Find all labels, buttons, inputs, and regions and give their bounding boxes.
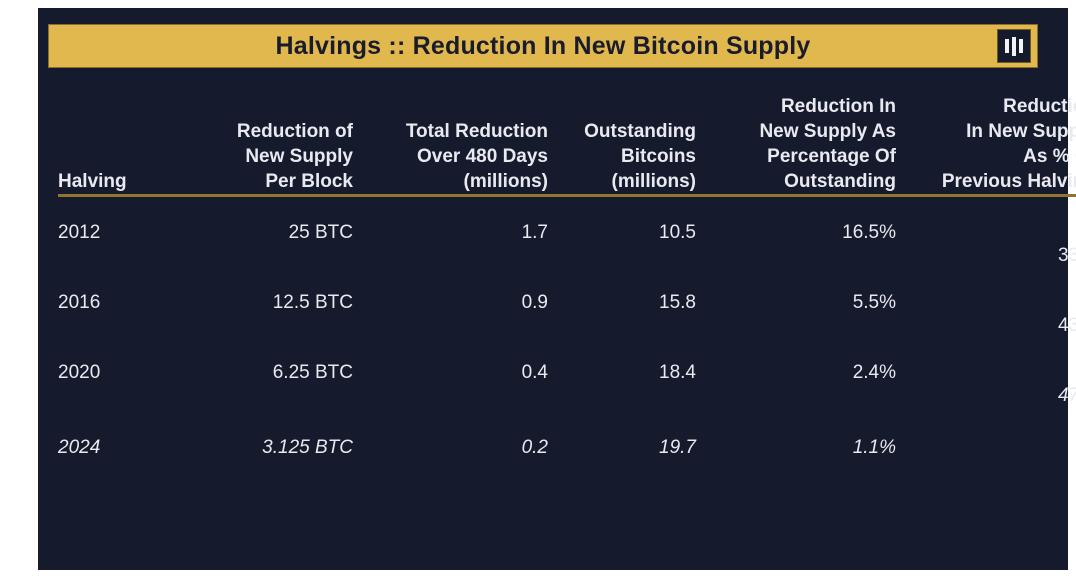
table-row: 2012 25 BTC 1.7 10.5 16.5% 33% <box>58 196 1076 268</box>
table-row: 2020 6.25 BTC 0.4 18.4 2.4% 47% <box>58 337 1076 407</box>
cell-reduction-per-block: 12.5 BTC <box>183 267 353 337</box>
cell-reduction-pct-outstanding: 5.5% <box>696 267 896 337</box>
cell-total-reduction: 0.9 <box>353 267 548 337</box>
cell-outstanding-bitcoins: 10.5 <box>548 196 696 268</box>
title-bar: Halvings :: Reduction In New Bitcoin Sup… <box>48 24 1038 68</box>
table-body: 2012 25 BTC 1.7 10.5 16.5% 33% 2016 12.5… <box>58 196 1076 489</box>
cell-halving: 2024 <box>58 407 183 488</box>
cell-halving: 2012 <box>58 196 183 268</box>
column-header-outstanding-bitcoins: Outstanding Bitcoins (millions) <box>548 94 696 196</box>
table-header: Halving Reduction of New Supply Per Bloc… <box>58 94 1076 196</box>
cell-reduction-pct-previous: 47% <box>896 337 1076 407</box>
cell-reduction-per-block: 25 BTC <box>183 196 353 268</box>
table-row: 2016 12.5 BTC 0.9 15.8 5.5% 43% <box>58 267 1076 337</box>
cell-total-reduction: 0.2 <box>353 407 548 488</box>
logo-bar-middle <box>1012 37 1016 56</box>
three-bars-icon[interactable] <box>997 29 1031 63</box>
column-header-reduction-per-block: Reduction of New Supply Per Block <box>183 94 353 196</box>
header-row: Halving Reduction of New Supply Per Bloc… <box>58 94 1076 196</box>
cell-reduction-pct-outstanding: 16.5% <box>696 196 896 268</box>
cell-total-reduction: 0.4 <box>353 337 548 407</box>
screenshot-root: Halvings :: Reduction In New Bitcoin Sup… <box>0 0 1076 588</box>
dark-panel: Halvings :: Reduction In New Bitcoin Sup… <box>38 8 1068 570</box>
cell-reduction-per-block: 3.125 BTC <box>183 407 353 488</box>
column-header-halving: Halving <box>58 94 183 196</box>
column-header-reduction-pct-previous: Reduction In New Supply As % Of Previous… <box>896 94 1076 196</box>
table-row: 2024 3.125 BTC 0.2 19.7 1.1% <box>58 407 1076 488</box>
cell-outstanding-bitcoins: 19.7 <box>548 407 696 488</box>
cell-reduction-pct-outstanding: 1.1% <box>696 407 896 488</box>
column-header-total-reduction: Total Reduction Over 480 Days (millions) <box>353 94 548 196</box>
cell-reduction-pct-previous: 43% <box>896 267 1076 337</box>
cell-reduction-pct-outstanding: 2.4% <box>696 337 896 407</box>
page-title: Halvings :: Reduction In New Bitcoin Sup… <box>275 32 810 61</box>
cell-reduction-pct-previous <box>896 407 1076 488</box>
cell-halving: 2020 <box>58 337 183 407</box>
cell-halving: 2016 <box>58 267 183 337</box>
logo-bar-right <box>1019 39 1023 53</box>
cell-outstanding-bitcoins: 18.4 <box>548 337 696 407</box>
halvings-table: Halving Reduction of New Supply Per Bloc… <box>58 94 1076 488</box>
column-header-reduction-pct-outstanding: Reduction In New Supply As Percentage Of… <box>696 94 896 196</box>
halvings-table-container: Halving Reduction of New Supply Per Bloc… <box>58 94 1058 488</box>
logo-bar-left <box>1005 39 1009 53</box>
cell-reduction-pct-previous: 33% <box>896 196 1076 268</box>
cell-total-reduction: 1.7 <box>353 196 548 268</box>
cell-outstanding-bitcoins: 15.8 <box>548 267 696 337</box>
cell-reduction-per-block: 6.25 BTC <box>183 337 353 407</box>
